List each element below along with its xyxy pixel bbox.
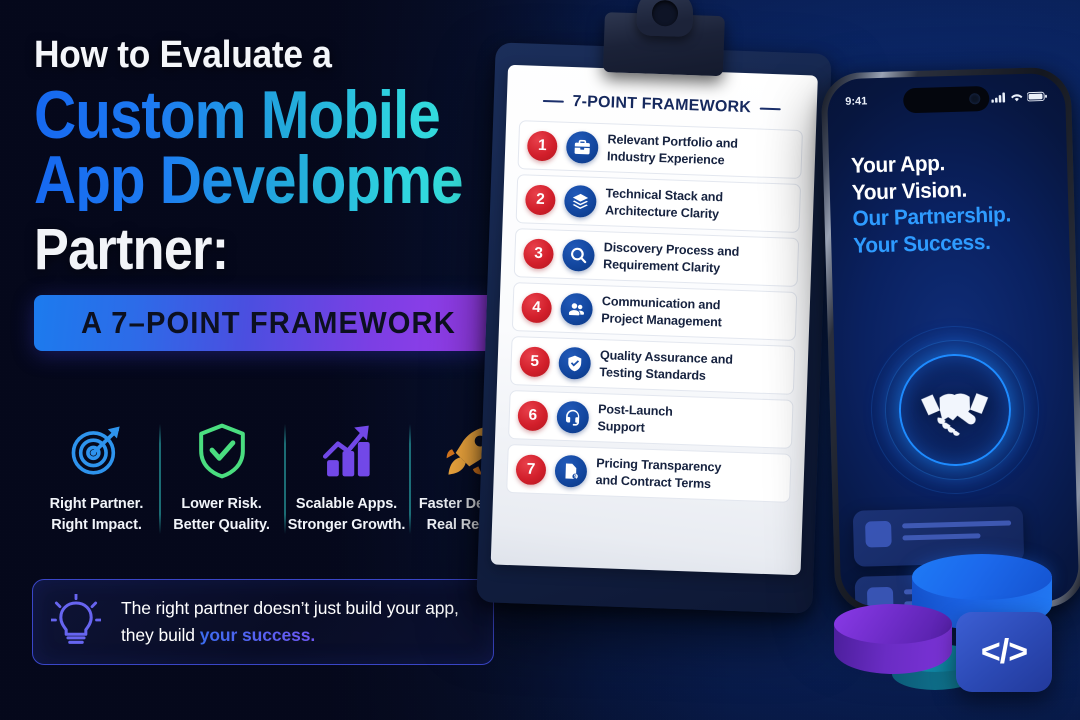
feature-line-2: Right Impact. [50, 515, 144, 536]
item-line-2: Architecture Clarity [605, 202, 723, 223]
feature-line-2: Stronger Growth. [288, 515, 406, 536]
phone-screen: 9:41 Your A [827, 73, 1080, 607]
item-label: Communication andProject Management [601, 293, 723, 331]
framework-item-2: 2Technical Stack andArchitecture Clarity [516, 174, 802, 233]
headset-icon [556, 400, 589, 433]
framework-item-3: 3Discovery Process andRequirement Clarit… [514, 228, 800, 287]
feature-strip: Right Partner. Right Impact. Lower Risk.… [34, 418, 534, 558]
handshake-badge [869, 324, 1042, 497]
title-dash-right [760, 107, 781, 110]
item-label: Technical Stack andArchitecture Clarity [605, 185, 723, 223]
wifi-icon [1010, 92, 1023, 102]
headline-gradient-line2: App Development [34, 149, 464, 212]
headline-kicker: How to Evaluate a [34, 36, 499, 74]
people-icon [560, 292, 593, 325]
framework-item-1: 1Relevant Portfolio andIndustry Experien… [517, 120, 803, 179]
item-label: Post-LaunchSupport [597, 401, 673, 437]
feature-line-1: Scalable Apps. [288, 494, 406, 515]
feature-line-2: Better Quality. [173, 515, 270, 536]
document-fee-icon [554, 454, 587, 487]
feature-lower-risk: Lower Risk. Better Quality. [159, 418, 284, 535]
item-line-2: Project Management [601, 310, 722, 331]
item-label: Pricing Transparencyand Contract Terms [595, 455, 721, 493]
search-icon [562, 238, 595, 271]
callout-box: The right partner doesn’t just build you… [32, 579, 494, 665]
infographic-canvas: How to Evaluate a Custom Mobile App Deve… [0, 0, 1080, 720]
growth-chart-icon [318, 420, 376, 482]
feature-label: Right Partner. Right Impact. [50, 494, 144, 535]
item-number-badge: 6 [517, 400, 548, 431]
headline-block: How to Evaluate a Custom Mobile App Deve… [34, 36, 534, 351]
clipboard-title: 7-POINT FRAMEWORK [520, 91, 804, 119]
framework-badge: A 7–POINT FRAMEWORK [34, 295, 502, 351]
phone-mockup: 9:41 Your A [821, 67, 1080, 614]
target-icon [68, 420, 126, 482]
handshake-icon [917, 372, 993, 448]
layers-icon [564, 185, 597, 218]
framework-badge-label: A 7–POINT FRAMEWORK [81, 305, 456, 341]
callout-text: The right partner doesn’t just build you… [121, 595, 475, 648]
status-time: 9:41 [845, 95, 867, 108]
card-thumb [865, 521, 892, 548]
feature-label: Scalable Apps. Stronger Growth. [288, 494, 406, 535]
code-tile: </> [956, 612, 1052, 692]
code-symbol: </> [981, 633, 1027, 672]
feature-label: Lower Risk. Better Quality. [173, 494, 270, 535]
item-number-badge: 2 [525, 184, 556, 215]
item-line-2: Industry Experience [607, 148, 738, 169]
cellular-icon [991, 92, 1006, 102]
item-line-1: Post-Launch [598, 401, 673, 420]
clipboard-sheet: 7-POINT FRAMEWORK 1Relevant Portfolio an… [491, 65, 818, 576]
title-dash-left [543, 100, 564, 103]
feature-right-partner: Right Partner. Right Impact. [34, 418, 159, 535]
card-placeholder-lines [902, 517, 1012, 540]
item-label: Quality Assurance andTesting Standards [599, 347, 733, 385]
item-line-2: Support [597, 418, 672, 437]
headline-gradient-line1: Custom Mobile [34, 84, 464, 147]
callout-text-accent: your success. [200, 625, 315, 645]
lightbulb-icon [51, 594, 101, 651]
phone-copy-line-4: Your Success. [853, 227, 1048, 259]
battery-icon [1027, 91, 1047, 102]
feature-scalable-apps: Scalable Apps. Stronger Growth. [284, 418, 409, 535]
item-line-2: and Contract Terms [595, 472, 721, 493]
shield-check-icon [194, 420, 250, 482]
headline-white-line: Partner: [34, 221, 484, 279]
clipboard-clip [603, 12, 725, 76]
feature-line-1: Lower Risk. [173, 494, 270, 515]
framework-item-6: 6Post-LaunchSupport [508, 390, 794, 449]
framework-item-7: 7Pricing Transparencyand Contract Terms [506, 444, 792, 503]
status-indicators [991, 91, 1047, 103]
clipboard-title-label: 7-POINT FRAMEWORK [572, 93, 751, 117]
clipboard: 7-POINT FRAMEWORK 1Relevant Portfolio an… [476, 42, 831, 613]
briefcase-icon [566, 131, 599, 164]
3d-objects-cluster: </> [820, 548, 1080, 720]
feature-line-1: Right Partner. [50, 494, 144, 515]
framework-list: 1Relevant Portfolio andIndustry Experien… [506, 120, 803, 503]
item-number-badge: 5 [519, 346, 550, 377]
framework-item-5: 5Quality Assurance andTesting Standards [510, 336, 796, 395]
item-number-badge: 3 [523, 238, 554, 269]
item-number-badge: 7 [515, 454, 546, 485]
item-label: Relevant Portfolio andIndustry Experienc… [607, 131, 738, 169]
shield-check-icon [558, 346, 591, 379]
item-number-badge: 1 [527, 130, 558, 161]
item-label: Discovery Process andRequirement Clarity [603, 239, 740, 277]
item-number-badge: 4 [521, 292, 552, 323]
phone-status-bar: 9:41 [827, 86, 1065, 113]
phone-copy: Your App.Your Vision.Our Partnership.You… [851, 147, 1054, 259]
framework-item-4: 4Communication andProject Management [512, 282, 798, 341]
pie-slice-purple [834, 604, 952, 692]
